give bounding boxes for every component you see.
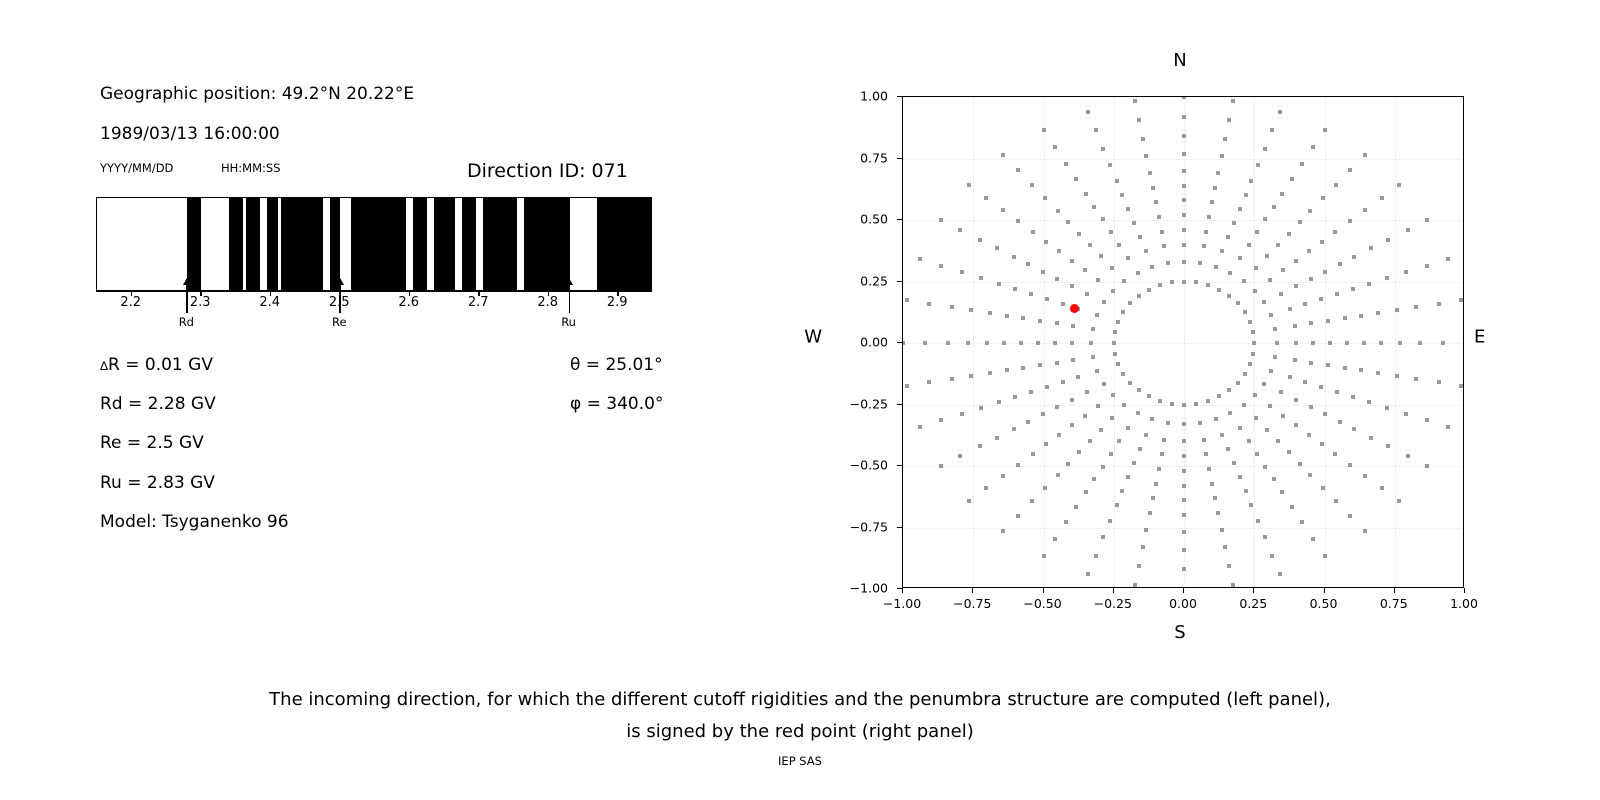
- direction-point: [1290, 177, 1294, 181]
- direction-point: [1091, 355, 1095, 359]
- rigidity-marker-label: Re: [332, 315, 347, 329]
- y-tick-mark: [897, 158, 902, 159]
- direction-point: [1019, 341, 1023, 345]
- direction-point: [1214, 265, 1218, 269]
- direction-point: [1220, 528, 1224, 532]
- direction-point: [1228, 271, 1232, 275]
- y-tick-label: −0.75: [850, 519, 888, 534]
- y-tick-mark: [897, 404, 902, 405]
- gridline-horizontal: [903, 220, 1463, 221]
- direction-point: [1248, 362, 1252, 366]
- caption-line-2: is signed by the red point (right panel): [0, 716, 1600, 748]
- x-tick-mark: [1324, 588, 1325, 593]
- direction-point: [985, 341, 989, 345]
- direction-point: [1064, 520, 1068, 524]
- direction-point: [1352, 255, 1356, 259]
- direction-point: [1092, 205, 1096, 209]
- y-tick-mark: [897, 465, 902, 466]
- rigidity-axis: 2.22.32.42.52.62.72.82.9RdReRu: [96, 291, 652, 351]
- direction-point: [1070, 259, 1074, 263]
- direction-point: [1281, 268, 1285, 272]
- direction-point: [1363, 529, 1367, 533]
- direction-point: [1380, 486, 1384, 490]
- direction-point: [1029, 292, 1033, 296]
- direction-point: [1263, 465, 1267, 469]
- direction-point: [1001, 208, 1005, 212]
- direction-point: [1326, 363, 1330, 367]
- direction-point: [1217, 288, 1221, 292]
- direction-point: [1244, 193, 1248, 197]
- direction-point: [1182, 454, 1186, 458]
- direction-point: [1061, 380, 1065, 384]
- direction-point: [1262, 300, 1266, 304]
- direction-point: [1151, 186, 1155, 190]
- direction-point: [1220, 154, 1224, 158]
- direction-point: [1293, 358, 1297, 362]
- direction-point: [979, 406, 983, 410]
- direction-point: [1001, 529, 1005, 533]
- direction-point: [1170, 402, 1174, 406]
- direction-point: [1096, 278, 1100, 282]
- direction-point: [946, 341, 950, 345]
- direction-point: [1376, 311, 1380, 315]
- direction-point: [1309, 321, 1313, 325]
- y-tick-mark: [897, 281, 902, 282]
- direction-point: [1074, 505, 1078, 509]
- gridline-vertical: [1395, 97, 1396, 587]
- penumbra-band-forbidden: [187, 198, 201, 290]
- direction-point: [1359, 368, 1363, 372]
- direction-point: [923, 341, 927, 345]
- direction-point: [1126, 207, 1130, 211]
- direction-point: [1151, 496, 1155, 500]
- direction-point: [1232, 461, 1236, 465]
- direction-point: [1319, 297, 1323, 301]
- direction-point: [1182, 198, 1186, 202]
- direction-point: [1045, 297, 1049, 301]
- direction-point: [1308, 209, 1312, 213]
- direction-point: [1334, 499, 1338, 503]
- direction-point: [1247, 243, 1251, 247]
- x-tick-label: 2.2: [120, 295, 141, 310]
- direction-point: [1275, 341, 1279, 345]
- gridline-vertical: [1044, 97, 1045, 587]
- direction-point: [1227, 564, 1231, 568]
- direction-point: [1182, 184, 1186, 188]
- direction-point: [1309, 405, 1313, 409]
- direction-point: [1367, 400, 1371, 404]
- direction-point: [1136, 411, 1140, 415]
- credit-label: IEP SAS: [0, 754, 1600, 768]
- direction-point: [1425, 218, 1429, 222]
- direction-point: [1238, 426, 1242, 430]
- direction-point: [1077, 450, 1081, 454]
- direction-point: [1137, 118, 1141, 122]
- direction-point: [1294, 284, 1298, 288]
- direction-point: [939, 464, 943, 468]
- direction-point: [1326, 319, 1330, 323]
- direction-point: [939, 264, 943, 268]
- direction-point: [1066, 220, 1070, 224]
- direction-point: [1463, 341, 1464, 345]
- direction-point: [1338, 420, 1342, 424]
- direction-point: [1272, 205, 1276, 209]
- direction-point: [1247, 439, 1251, 443]
- direction-point: [1362, 341, 1366, 345]
- direction-point: [988, 311, 992, 315]
- direction-point: [1132, 221, 1136, 225]
- direction-point: [1223, 545, 1227, 549]
- direction-point: [1414, 377, 1418, 381]
- direction-point: [1126, 256, 1130, 260]
- direction-point: [1386, 444, 1390, 448]
- direction-point: [1294, 423, 1298, 427]
- direction-point: [1262, 382, 1266, 386]
- y-tick-label: 0.25: [860, 273, 888, 288]
- direction-point: [1041, 270, 1045, 274]
- direction-point: [1236, 301, 1240, 305]
- penumbra-band-forbidden: [330, 198, 340, 290]
- x-tick-label: 0.00: [1169, 596, 1197, 611]
- direction-point: [1217, 394, 1221, 398]
- x-tick-mark: [1113, 588, 1114, 593]
- direction-point: [1158, 399, 1162, 403]
- x-tick-label: 2.3: [190, 295, 211, 310]
- direction-point: [1251, 330, 1255, 334]
- direction-point: [995, 246, 999, 250]
- direction-point: [1162, 438, 1166, 442]
- direction-point: [1395, 374, 1399, 378]
- direction-point: [1386, 238, 1390, 242]
- direction-point: [1101, 217, 1105, 221]
- direction-point: [1207, 467, 1211, 471]
- direction-point: [978, 238, 982, 242]
- direction-point: [1288, 375, 1292, 379]
- direction-point: [1333, 230, 1337, 234]
- direction-point: [1029, 390, 1033, 394]
- direction-point: [1182, 439, 1186, 443]
- gridline-vertical: [973, 97, 974, 587]
- direction-point: [1162, 244, 1166, 248]
- direction-point: [1335, 292, 1339, 296]
- direction-point: [1321, 486, 1325, 490]
- direction-point: [1115, 179, 1119, 183]
- direction-point: [1166, 261, 1170, 265]
- direction-point: [1307, 249, 1311, 253]
- direction-point: [1099, 254, 1103, 258]
- direction-point: [1319, 385, 1323, 389]
- penumbra-band-forbidden: [524, 198, 569, 290]
- time-format-hint: HH:MM:SS: [221, 161, 281, 175]
- direction-point: [1182, 243, 1186, 247]
- direction-point: [1287, 450, 1291, 454]
- direction-point: [1338, 262, 1342, 266]
- direction-point: [1038, 319, 1042, 323]
- param-delta-r-value: R = 0.01 GV: [108, 355, 213, 375]
- param-re: Re = 2.5 GV: [100, 433, 204, 453]
- direction-point: [1101, 147, 1105, 151]
- x-tick-label: 2.6: [398, 295, 419, 310]
- direction-point: [1111, 393, 1115, 397]
- direction-point: [1133, 583, 1137, 587]
- right-panel: N S W E −1.00−0.75−0.50−0.250.000.250.50…: [830, 50, 1530, 660]
- direction-point: [1425, 264, 1429, 268]
- direction-point: [1148, 171, 1152, 175]
- direction-point: [918, 425, 922, 429]
- direction-point: [1115, 503, 1119, 507]
- gridline-vertical: [1325, 97, 1326, 587]
- direction-point: [1108, 519, 1112, 523]
- direction-point: [1182, 567, 1186, 571]
- direction-point: [1043, 196, 1047, 200]
- direction-point: [1031, 230, 1035, 234]
- direction-point: [927, 302, 931, 306]
- direction-point: [1351, 395, 1355, 399]
- direction-point: [958, 454, 962, 458]
- direction-point: [1053, 341, 1057, 345]
- compass-label-north: N: [1173, 50, 1186, 71]
- direction-point: [1160, 230, 1164, 234]
- direction-point: [1056, 473, 1060, 477]
- direction-point: [1414, 305, 1418, 309]
- direction-point: [1109, 452, 1113, 456]
- y-tick-label: 0.00: [860, 335, 888, 350]
- direction-point: [1120, 489, 1124, 493]
- direction-point: [1016, 219, 1020, 223]
- direction-point: [1293, 324, 1297, 328]
- direction-point: [1359, 314, 1363, 318]
- direction-point: [1397, 183, 1401, 187]
- direction-point: [1166, 421, 1170, 425]
- direction-point: [1101, 465, 1105, 469]
- direction-point: [1404, 270, 1408, 274]
- direction-point: [979, 276, 983, 280]
- x-tick-label: 2.9: [607, 295, 628, 310]
- direction-point: [1298, 220, 1302, 224]
- direction-point: [1001, 474, 1005, 478]
- direction-point: [905, 384, 909, 388]
- y-tick-label: −0.25: [850, 396, 888, 411]
- direction-point: [1053, 537, 1057, 541]
- compass-label-south: S: [1174, 622, 1185, 643]
- penumbra-band-forbidden: [483, 198, 518, 290]
- direction-point: [958, 228, 962, 232]
- direction-point: [1101, 535, 1105, 539]
- direction-point: [1425, 464, 1429, 468]
- direction-point: [1182, 484, 1186, 488]
- direction-point: [1248, 320, 1252, 324]
- direction-point: [1099, 428, 1103, 432]
- direction-point: [1138, 235, 1142, 239]
- compass-label-west: W: [804, 327, 822, 348]
- direction-point: [1095, 369, 1099, 373]
- direction-point: [1238, 256, 1242, 260]
- direction-point: [1001, 153, 1005, 157]
- direction-point: [1311, 145, 1315, 149]
- penumbra-band-forbidden: [281, 198, 323, 290]
- direction-point: [1216, 171, 1220, 175]
- direction-point: [1244, 489, 1248, 493]
- direction-point: [1182, 498, 1186, 502]
- direction-point: [1446, 425, 1450, 429]
- direction-point: [1182, 403, 1186, 407]
- x-tick-label: −0.50: [1023, 596, 1061, 611]
- direction-point: [1030, 183, 1034, 187]
- direction-point: [969, 374, 973, 378]
- direction-point: [1226, 447, 1230, 451]
- direction-scatter-plot: [902, 96, 1464, 588]
- gridline-horizontal: [903, 528, 1463, 529]
- direction-point: [1294, 341, 1298, 345]
- delta-symbol: ∆: [100, 359, 108, 373]
- param-rd: Rd = 2.28 GV: [100, 394, 216, 414]
- direction-point: [1198, 261, 1202, 265]
- direction-point: [1182, 280, 1186, 284]
- direction-point: [1216, 511, 1220, 515]
- direction-point: [1385, 406, 1389, 410]
- direction-point: [1206, 283, 1210, 287]
- direction-point: [1395, 308, 1399, 312]
- direction-point: [1437, 380, 1441, 384]
- direction-point: [1182, 469, 1186, 473]
- direction-point: [1157, 215, 1161, 219]
- direction-point: [1276, 243, 1280, 247]
- direction-point: [1110, 266, 1114, 270]
- direction-point: [1459, 298, 1463, 302]
- direction-point: [1279, 292, 1283, 296]
- direction-point: [1042, 128, 1046, 132]
- direction-point: [1182, 213, 1186, 217]
- direction-point: [918, 257, 922, 261]
- direction-point: [1379, 341, 1383, 345]
- selected-direction-point: [1070, 304, 1079, 313]
- direction-point: [1238, 207, 1242, 211]
- x-tick-label: 2.8: [537, 295, 558, 310]
- direction-point: [1323, 270, 1327, 274]
- x-tick-mark: [902, 588, 903, 593]
- direction-point: [1057, 433, 1061, 437]
- direction-point: [1198, 421, 1202, 425]
- direction-point: [1323, 412, 1327, 416]
- direction-point: [997, 400, 1001, 404]
- direction-point: [1128, 381, 1132, 385]
- direction-point: [1044, 240, 1048, 244]
- direction-point: [1016, 168, 1020, 172]
- direction-point: [984, 196, 988, 200]
- direction-point: [1328, 341, 1332, 345]
- direction-point: [1303, 302, 1307, 306]
- direction-point: [950, 305, 954, 309]
- direction-point: [1418, 341, 1422, 345]
- y-tick-label: 1.00: [860, 89, 888, 104]
- direction-point: [1036, 341, 1040, 345]
- direction-point: [1132, 461, 1136, 465]
- direction-point: [1213, 496, 1217, 500]
- direction-point: [1005, 314, 1009, 318]
- direction-point: [1363, 474, 1367, 478]
- direction-point: [1109, 230, 1113, 234]
- direction-point: [1320, 442, 1324, 446]
- direction-point: [1276, 439, 1280, 443]
- direction-point: [1055, 321, 1059, 325]
- date-format-hint: YYYY/MM/DD: [100, 161, 173, 175]
- direction-point: [1141, 545, 1145, 549]
- direction-point: [1308, 473, 1312, 477]
- direction-point: [1086, 110, 1090, 114]
- direction-point: [1303, 380, 1307, 384]
- direction-point: [939, 218, 943, 222]
- direction-point: [1016, 463, 1020, 467]
- rigidity-marker-label: Ru: [561, 315, 576, 329]
- direction-point: [997, 282, 1001, 286]
- direction-point: [1070, 284, 1074, 288]
- direction-point: [967, 183, 971, 187]
- direction-point: [960, 412, 964, 416]
- x-tick-label: −1.00: [883, 596, 921, 611]
- direction-point: [1126, 426, 1130, 430]
- direction-point: [1026, 262, 1030, 266]
- direction-point: [1194, 402, 1198, 406]
- direction-point: [1137, 388, 1141, 392]
- y-tick-mark: [897, 219, 902, 220]
- direction-point: [1206, 399, 1210, 403]
- x-tick-mark: [972, 588, 973, 593]
- left-panel: Geographic position: 49.2°N 20.22°E 1989…: [0, 0, 760, 660]
- direction-point: [1182, 548, 1186, 552]
- direction-point: [1076, 375, 1080, 379]
- direction-point: [1348, 219, 1352, 223]
- direction-point: [978, 444, 982, 448]
- direction-point: [1092, 477, 1096, 481]
- direction-point: [1064, 162, 1068, 166]
- direction-point: [1320, 240, 1324, 244]
- param-phi: φ = 340.0°: [570, 394, 663, 414]
- direction-point: [1005, 368, 1009, 372]
- direction-point: [1263, 217, 1267, 221]
- direction-point: [1026, 420, 1030, 424]
- geographic-position-label: Geographic position: 49.2°N 20.22°E: [100, 84, 414, 104]
- x-tick-mark: [1043, 588, 1044, 593]
- direction-point: [1265, 428, 1269, 432]
- direction-point: [960, 270, 964, 274]
- direction-point: [1307, 433, 1311, 437]
- direction-point: [1334, 183, 1338, 187]
- direction-point: [1280, 490, 1284, 494]
- direction-point: [1144, 249, 1148, 253]
- direction-point: [1066, 462, 1070, 466]
- x-tick-label: 0.75: [1380, 596, 1408, 611]
- direction-point: [1030, 499, 1034, 503]
- direction-point: [1013, 395, 1017, 399]
- direction-point: [1226, 235, 1230, 239]
- figure-caption: The incoming direction, for which the di…: [0, 684, 1600, 747]
- param-theta: θ = 25.01°: [570, 355, 663, 375]
- direction-point: [1158, 283, 1162, 287]
- direction-point: [1113, 352, 1117, 356]
- direction-point: [1085, 390, 1089, 394]
- direction-point: [1425, 418, 1429, 422]
- penumbra-band-forbidden: [597, 198, 652, 290]
- direction-point: [1074, 177, 1078, 181]
- direction-point: [1182, 96, 1186, 99]
- x-tick-mark: [1394, 588, 1395, 593]
- direction-point: [1309, 361, 1313, 365]
- y-tick-mark: [897, 527, 902, 528]
- direction-point: [1182, 228, 1186, 232]
- direction-point: [1231, 583, 1235, 587]
- direction-point: [1044, 442, 1048, 446]
- direction-point: [1270, 554, 1274, 558]
